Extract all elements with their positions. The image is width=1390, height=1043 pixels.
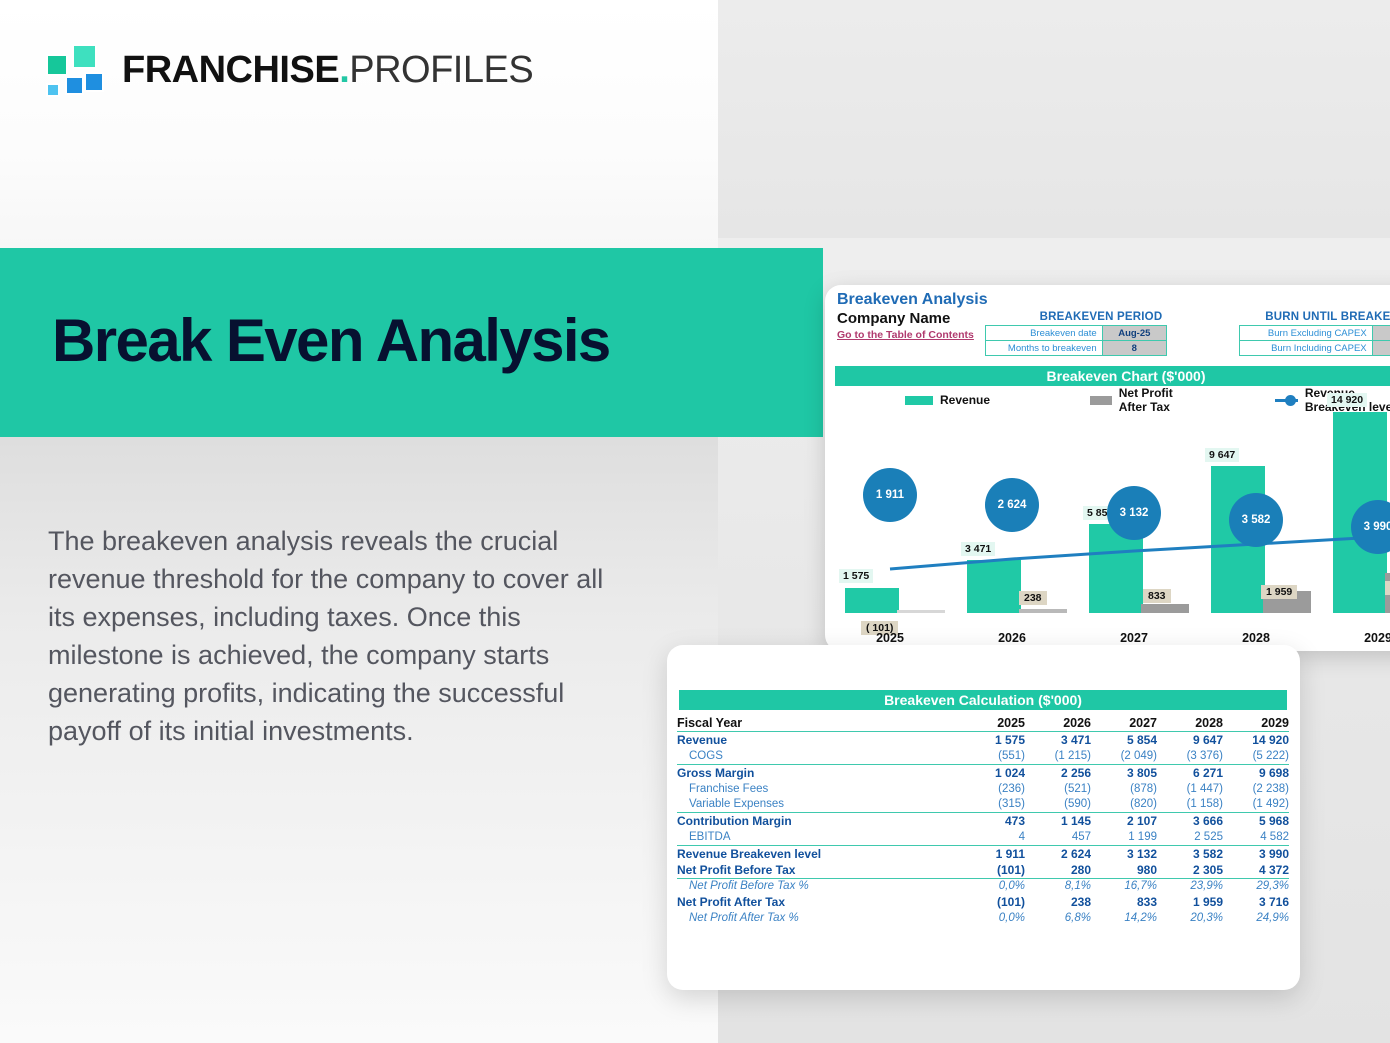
header-fiscal-year: Fiscal Year [677, 715, 959, 732]
table-body: Fiscal Year 2025 2026 2027 2028 2029 Rev… [677, 715, 1289, 926]
cell-npbt-pct-2025: 0,0% [959, 878, 1025, 894]
bar-label-net-profit-2027: 833 [1143, 589, 1171, 603]
legend-label-net-profit-after-tax: Net Profit After Tax [1119, 386, 1203, 414]
table-row: Breakeven date Aug-25 [986, 326, 1167, 341]
bar-label-net-profit-2026: 238 [1019, 591, 1047, 605]
cell-npbt-pct-2027: 16,7% [1091, 878, 1157, 894]
cell-variable-expenses-2029: (1 492) [1223, 797, 1289, 813]
burn-including-capex-value [1372, 341, 1390, 356]
logo-square-1 [46, 54, 68, 76]
cell-cogs-2028: (3 376) [1157, 748, 1223, 764]
logo-square-3 [84, 72, 104, 92]
cell-franchise-fees-2026: (521) [1025, 781, 1091, 797]
header-year-2028: 2028 [1157, 715, 1223, 732]
x-axis-tick-2029: 2029 [1323, 631, 1390, 645]
header-year-2026: 2026 [1025, 715, 1091, 732]
burn-including-capex-label: Burn Including CAPEX [1240, 341, 1373, 356]
burn-excluding-capex-value [1372, 326, 1390, 341]
cell-contribution-margin-2027: 2 107 [1091, 813, 1157, 830]
cell-revenue-breakeven-2027: 3 132 [1091, 845, 1157, 862]
cell-ebitda-2029: 4 582 [1223, 829, 1289, 845]
cell-ebitda-2028: 2 525 [1157, 829, 1223, 845]
cell-franchise-fees-2027: (878) [1091, 781, 1157, 797]
x-axis-tick-2028: 2028 [1201, 631, 1311, 645]
cell-npat-2026: 238 [1025, 894, 1091, 910]
cell-npbt-2029: 4 372 [1223, 862, 1289, 879]
breakeven-calculation-table: Fiscal Year 2025 2026 2027 2028 2029 Rev… [677, 715, 1289, 926]
cell-revenue-2028: 9 647 [1157, 732, 1223, 749]
row-label-franchise-fees: Franchise Fees [677, 781, 959, 797]
burn-until-breakeven-table: Burn Excluding CAPEX Burn Including CAPE… [1239, 325, 1390, 356]
table-row: COGS (551) (1 215) (2 049) (3 376) (5 22… [677, 748, 1289, 764]
legend-item-net-profit-after-tax: Net Profit After Tax [1090, 386, 1203, 414]
legend-item-revenue: Revenue [905, 393, 990, 407]
x-axis-tick-2025: 2025 [835, 631, 945, 645]
cell-npbt-2026: 280 [1025, 862, 1091, 879]
row-label-variable-expenses: Variable Expenses [677, 797, 959, 813]
row-label-net-profit-after-tax: Net Profit After Tax [677, 894, 959, 910]
page-title: Break Even Analysis [52, 306, 610, 375]
logo-word-profiles: PROFILES [349, 49, 533, 91]
chart-card-title: Breakeven Analysis [837, 291, 988, 309]
bar-label-net-profit-2028: 1 959 [1261, 585, 1297, 599]
cell-npbt-pct-2026: 8,1% [1025, 878, 1091, 894]
logo-wordmark: FRANCHISE.PROFILES [122, 51, 533, 89]
breakeven-bubble-2027: 3 132 [1107, 486, 1161, 540]
cell-npbt-2028: 2 305 [1157, 862, 1223, 879]
months-to-breakeven-value: 8 [1102, 341, 1166, 356]
cell-npat-2027: 833 [1091, 894, 1157, 910]
cell-npbt-2027: 980 [1091, 862, 1157, 879]
cell-cogs-2027: (2 049) [1091, 748, 1157, 764]
cell-variable-expenses-2027: (820) [1091, 797, 1157, 813]
table-row: Burn Excluding CAPEX [1240, 326, 1390, 341]
bar-label-revenue-2026: 3 471 [961, 542, 995, 556]
brand-logo[interactable]: FRANCHISE.PROFILES [44, 42, 533, 98]
cell-npbt-2025: (101) [959, 862, 1025, 879]
table-of-contents-link[interactable]: Go to the Table of Contents [837, 329, 974, 341]
cell-gross-margin-2027: 3 805 [1091, 764, 1157, 781]
cell-gross-margin-2025: 1 024 [959, 764, 1025, 781]
bar-label-net-profit-2029: 3 716 [1385, 581, 1390, 595]
breakeven-bubble-2026: 2 624 [985, 478, 1039, 532]
logo-square-5 [46, 83, 60, 97]
cell-franchise-fees-2029: (2 238) [1223, 781, 1289, 797]
chart-card-company: Company Name [837, 310, 950, 327]
table-row: Contribution Margin 473 1 145 2 107 3 66… [677, 813, 1289, 830]
cell-contribution-margin-2026: 1 145 [1025, 813, 1091, 830]
cell-npat-pct-2027: 14,2% [1091, 910, 1157, 926]
cell-ebitda-2025: 4 [959, 829, 1025, 845]
cell-ebitda-2026: 457 [1025, 829, 1091, 845]
breakeven-period-header: BREAKEVEN PERIOD [1021, 311, 1181, 323]
table-row: EBITDA 4 457 1 199 2 525 4 582 [677, 829, 1289, 845]
cell-revenue-2026: 3 471 [1025, 732, 1091, 749]
table-row: Net Profit After Tax (101) 238 833 1 959… [677, 894, 1289, 910]
legend-label-revenue: Revenue [940, 393, 990, 407]
background-top-right [718, 0, 1390, 238]
cell-revenue-breakeven-2028: 3 582 [1157, 845, 1223, 862]
bar-revenue-2026 [967, 560, 1021, 613]
row-label-net-profit-after-tax-pct: Net Profit After Tax % [677, 910, 959, 926]
burn-until-breakeven-header: BURN UNTIL BREAKEVEN [1245, 311, 1390, 323]
table-row: Revenue 1 575 3 471 5 854 9 647 14 920 [677, 732, 1289, 749]
breakeven-chart-card[interactable]: Breakeven Analysis Company Name Go to th… [825, 285, 1390, 651]
cell-cogs-2026: (1 215) [1025, 748, 1091, 764]
breakeven-date-label: Breakeven date [986, 326, 1103, 341]
row-label-revenue-breakeven-level: Revenue Breakeven level [677, 845, 959, 862]
cell-npat-2028: 1 959 [1157, 894, 1223, 910]
header-year-2025: 2025 [959, 715, 1025, 732]
table-row: Net Profit After Tax % 0,0% 6,8% 14,2% 2… [677, 910, 1289, 926]
breakeven-date-value: Aug-25 [1102, 326, 1166, 341]
row-label-revenue: Revenue [677, 732, 959, 749]
row-label-cogs: COGS [677, 748, 959, 764]
row-label-net-profit-before-tax: Net Profit Before Tax [677, 862, 959, 879]
cell-npat-pct-2028: 20,3% [1157, 910, 1223, 926]
cell-revenue-breakeven-2026: 2 624 [1025, 845, 1091, 862]
burn-excluding-capex-label: Burn Excluding CAPEX [1240, 326, 1373, 341]
logo-square-2 [72, 44, 97, 69]
cell-cogs-2029: (5 222) [1223, 748, 1289, 764]
cell-revenue-2025: 1 575 [959, 732, 1025, 749]
table-row: Gross Margin 1 024 2 256 3 805 6 271 9 6… [677, 764, 1289, 781]
cell-npat-pct-2025: 0,0% [959, 910, 1025, 926]
slide-root: FRANCHISE.PROFILES Break Even Analysis T… [0, 0, 1390, 1043]
header-year-2027: 2027 [1091, 715, 1157, 732]
cell-franchise-fees-2028: (1 447) [1157, 781, 1223, 797]
row-label-net-profit-before-tax-pct: Net Profit Before Tax % [677, 878, 959, 894]
table-row: Franchise Fees (236) (521) (878) (1 447)… [677, 781, 1289, 797]
cell-gross-margin-2028: 6 271 [1157, 764, 1223, 781]
cell-variable-expenses-2026: (590) [1025, 797, 1091, 813]
cell-variable-expenses-2025: (315) [959, 797, 1025, 813]
bar-label-revenue-2025: 1 575 [839, 569, 873, 583]
x-axis-tick-2026: 2026 [957, 631, 1067, 645]
chart-legend: Revenue Net Profit After Tax Revenue Bre… [835, 391, 1390, 409]
logo-square-4 [65, 76, 84, 95]
breakeven-bubble-2025: 1 911 [863, 468, 917, 522]
cell-variable-expenses-2028: (1 158) [1157, 797, 1223, 813]
table-row: Months to breakeven 8 [986, 341, 1167, 356]
cell-contribution-margin-2028: 3 666 [1157, 813, 1223, 830]
chart-plot-area: 1 575 ( 101) 1 911 2025 3 471 238 2 624 … [835, 413, 1390, 651]
cell-npbt-pct-2028: 23,9% [1157, 878, 1223, 894]
bar-label-revenue-2028: 9 647 [1205, 448, 1239, 462]
table-row: Variable Expenses (315) (590) (820) (1 1… [677, 797, 1289, 813]
x-axis-tick-2027: 2027 [1079, 631, 1189, 645]
cell-npat-pct-2026: 6,8% [1025, 910, 1091, 926]
cell-revenue-breakeven-2025: 1 911 [959, 845, 1025, 862]
bar-net-profit-2025 [897, 610, 945, 613]
cell-ebitda-2027: 1 199 [1091, 829, 1157, 845]
breakeven-bubble-2028: 3 582 [1229, 493, 1283, 547]
chart-band-title: Breakeven Chart ($'000) [835, 366, 1390, 386]
bar-revenue-2025 [845, 588, 899, 613]
table-row: Net Profit Before Tax (101) 280 980 2 30… [677, 862, 1289, 879]
legend-line-marker-icon [1275, 399, 1298, 402]
cell-gross-margin-2029: 9 698 [1223, 764, 1289, 781]
background-top-left [0, 0, 718, 248]
cell-npat-2029: 3 716 [1223, 894, 1289, 910]
table-band-title: Breakeven Calculation ($'000) [679, 690, 1287, 710]
bar-net-profit-2026 [1019, 609, 1067, 613]
table-row: Net Profit Before Tax % 0,0% 8,1% 16,7% … [677, 878, 1289, 894]
cell-contribution-margin-2025: 473 [959, 813, 1025, 830]
header-year-2029: 2029 [1223, 715, 1289, 732]
breakeven-calculation-card[interactable]: Breakeven Calculation ($'000) Fiscal Yea… [667, 645, 1300, 990]
breakeven-period-table: Breakeven date Aug-25 Months to breakeve… [985, 325, 1167, 356]
row-label-ebitda: EBITDA [677, 829, 959, 845]
table-header-row: Fiscal Year 2025 2026 2027 2028 2029 [677, 715, 1289, 732]
row-label-contribution-margin: Contribution Margin [677, 813, 959, 830]
cell-cogs-2025: (551) [959, 748, 1025, 764]
logo-mark-icon [44, 42, 106, 98]
legend-swatch-icon [1090, 396, 1112, 405]
row-label-gross-margin: Gross Margin [677, 764, 959, 781]
logo-word-franchise: FRANCHISE [122, 49, 339, 91]
cell-gross-margin-2026: 2 256 [1025, 764, 1091, 781]
cell-revenue-2027: 5 854 [1091, 732, 1157, 749]
bar-net-profit-2027 [1141, 604, 1189, 613]
cell-npat-2025: (101) [959, 894, 1025, 910]
cell-revenue-breakeven-2029: 3 990 [1223, 845, 1289, 862]
cell-npat-pct-2029: 24,9% [1223, 910, 1289, 926]
bar-label-revenue-2029: 14 920 [1327, 393, 1367, 407]
table-row: Revenue Breakeven level 1 911 2 624 3 13… [677, 845, 1289, 862]
table-row: Burn Including CAPEX [1240, 341, 1390, 356]
cell-contribution-margin-2029: 5 968 [1223, 813, 1289, 830]
hero-paragraph: The breakeven analysis reveals the cruci… [48, 522, 628, 750]
cell-revenue-2029: 14 920 [1223, 732, 1289, 749]
logo-dot: . [339, 49, 349, 91]
cell-franchise-fees-2025: (236) [959, 781, 1025, 797]
months-to-breakeven-label: Months to breakeven [986, 341, 1103, 356]
legend-swatch-icon [905, 396, 933, 405]
cell-npbt-pct-2029: 29,3% [1223, 878, 1289, 894]
